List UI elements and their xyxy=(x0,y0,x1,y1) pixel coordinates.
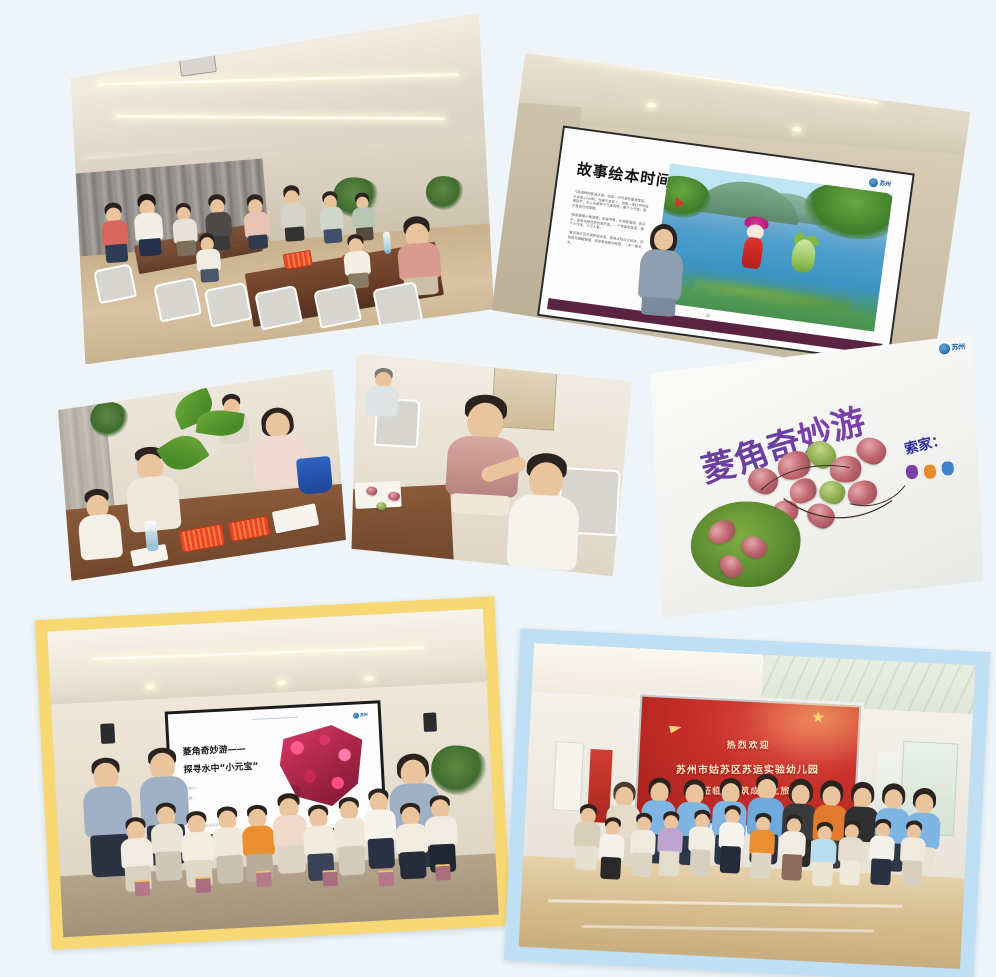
audience-member-child xyxy=(340,233,372,289)
chair xyxy=(254,284,303,330)
photo-group-hall-frame[interactable]: ★ 热烈欢迎 苏州市姑苏区苏运实验幼儿园 莅临 湖 筑成长之旅 xyxy=(504,628,990,977)
photo-poster[interactable]: 苏州 菱角奇妙游 索家： xyxy=(643,334,991,617)
presenter xyxy=(635,223,688,318)
story-slide-scene: 苏州 故事绘本时间 飞来湖畔的菱湖水里，住着一只可爱的菱角宝宝，它浑身小red刺… xyxy=(489,40,973,383)
wall-poster-left xyxy=(552,741,584,811)
child xyxy=(597,817,626,880)
audience-member-child xyxy=(193,232,223,282)
child xyxy=(717,805,746,874)
parent-child-plant-scene xyxy=(54,369,350,581)
water-chestnut xyxy=(366,486,377,496)
slide-header-line xyxy=(252,717,298,720)
water-chestnut xyxy=(376,501,386,510)
chair xyxy=(153,277,202,323)
group-hall-scene: ★ 热烈欢迎 苏州市姑苏区苏运实验幼儿园 莅临 湖 筑成长之旅 xyxy=(534,643,975,665)
slide-title-line2: 探寻水中“小元宝” xyxy=(183,758,258,775)
wall-speaker xyxy=(100,723,115,744)
photo-parent-child-plant[interactable] xyxy=(54,369,350,581)
child xyxy=(686,809,715,876)
logo-dot-icon xyxy=(938,343,950,355)
logo-text: 苏州 xyxy=(879,180,891,187)
banner-bird-icon xyxy=(669,723,683,734)
slide-title-line1: 菱角奇妙游—— xyxy=(182,742,246,758)
chair xyxy=(372,281,423,329)
gift-bag xyxy=(135,880,151,897)
photo-lecture-hall[interactable] xyxy=(60,14,504,365)
feeding-scene xyxy=(345,349,632,576)
child xyxy=(867,818,896,885)
audience-member xyxy=(131,192,166,256)
water-chestnut xyxy=(819,480,846,505)
logo-dot-icon xyxy=(353,713,359,719)
background-person xyxy=(365,367,402,417)
child xyxy=(779,814,808,881)
banner-line-2: 苏州市姑苏区苏运实验幼儿园 xyxy=(637,761,858,776)
lecture-hall-scene xyxy=(60,14,504,365)
flag-marker-icon xyxy=(675,198,685,209)
child xyxy=(898,820,927,887)
logo-text: 苏州 xyxy=(951,344,965,352)
wall-speaker xyxy=(423,712,437,732)
slide-title: 故事绘本时间 xyxy=(575,158,673,192)
lake-illustration xyxy=(651,163,892,331)
child xyxy=(655,811,684,877)
photo-group-screen: 苏州 菱角奇妙游—— 探寻水中“小元宝” 主讲人： 时间： 苏州市姑苏区苏运实验… xyxy=(47,609,498,937)
audience-member xyxy=(278,184,309,242)
water-chestnut xyxy=(804,500,838,532)
banner-line-1: 热烈欢迎 xyxy=(638,738,859,751)
child xyxy=(748,812,777,879)
blue-tote-bag xyxy=(296,455,333,494)
organization-logo: 苏州 xyxy=(868,177,891,189)
organization-logo: 苏州 xyxy=(938,342,965,355)
chair xyxy=(93,263,137,304)
sticker-character-blue-icon xyxy=(941,461,954,476)
organization-logo: 苏州 xyxy=(353,712,368,719)
poster-subtitle: 索家： xyxy=(902,429,948,459)
gift-bag xyxy=(256,870,272,887)
sticker-character-purple-icon xyxy=(905,465,918,480)
sticker-character-orange-icon xyxy=(923,464,936,479)
audience-member xyxy=(98,201,133,263)
logo-text: 苏州 xyxy=(360,713,368,717)
lily-pads xyxy=(692,274,851,317)
stem-lines xyxy=(643,334,991,617)
gift-bag xyxy=(196,877,212,894)
child xyxy=(423,794,461,873)
group-screen-scene: 苏州 菱角奇妙游—— 探寻水中“小元宝” 主讲人： 时间： 苏州市姑苏区苏运实验… xyxy=(47,609,482,632)
mascot-green-character xyxy=(788,231,820,278)
child xyxy=(809,821,838,886)
chair xyxy=(313,283,362,329)
child xyxy=(836,820,865,886)
photo-feeding[interactable] xyxy=(345,349,632,576)
photo-group-hall: ★ 热烈欢迎 苏州市姑苏区苏运实验幼儿园 莅临 湖 筑成长之旅 xyxy=(519,643,976,969)
child-boy xyxy=(74,487,124,561)
gift-bag xyxy=(322,870,338,887)
logo-dot-icon xyxy=(868,177,878,187)
child xyxy=(628,812,657,877)
photo-collage-canvas: 苏州 故事绘本时间 飞来湖畔的菱湖水里，住着一只可爱的菱角宝宝，它浑身小red刺… xyxy=(0,0,996,977)
photo-story-slide[interactable]: 苏州 故事绘本时间 飞来湖畔的菱湖水里，住着一只可爱的菱角宝宝，它浑身小red刺… xyxy=(489,40,973,383)
slide-page-number: 06 xyxy=(705,313,710,319)
mascot-red-character xyxy=(737,216,770,271)
gift-bag xyxy=(379,870,395,887)
photo-group-screen-frame[interactable]: 苏州 菱角奇妙游—— 探寻水中“小元宝” 主讲人： 时间： 苏州市姑苏区苏运实验… xyxy=(35,596,512,950)
gift-bag xyxy=(435,864,451,881)
audience-member xyxy=(240,193,271,249)
